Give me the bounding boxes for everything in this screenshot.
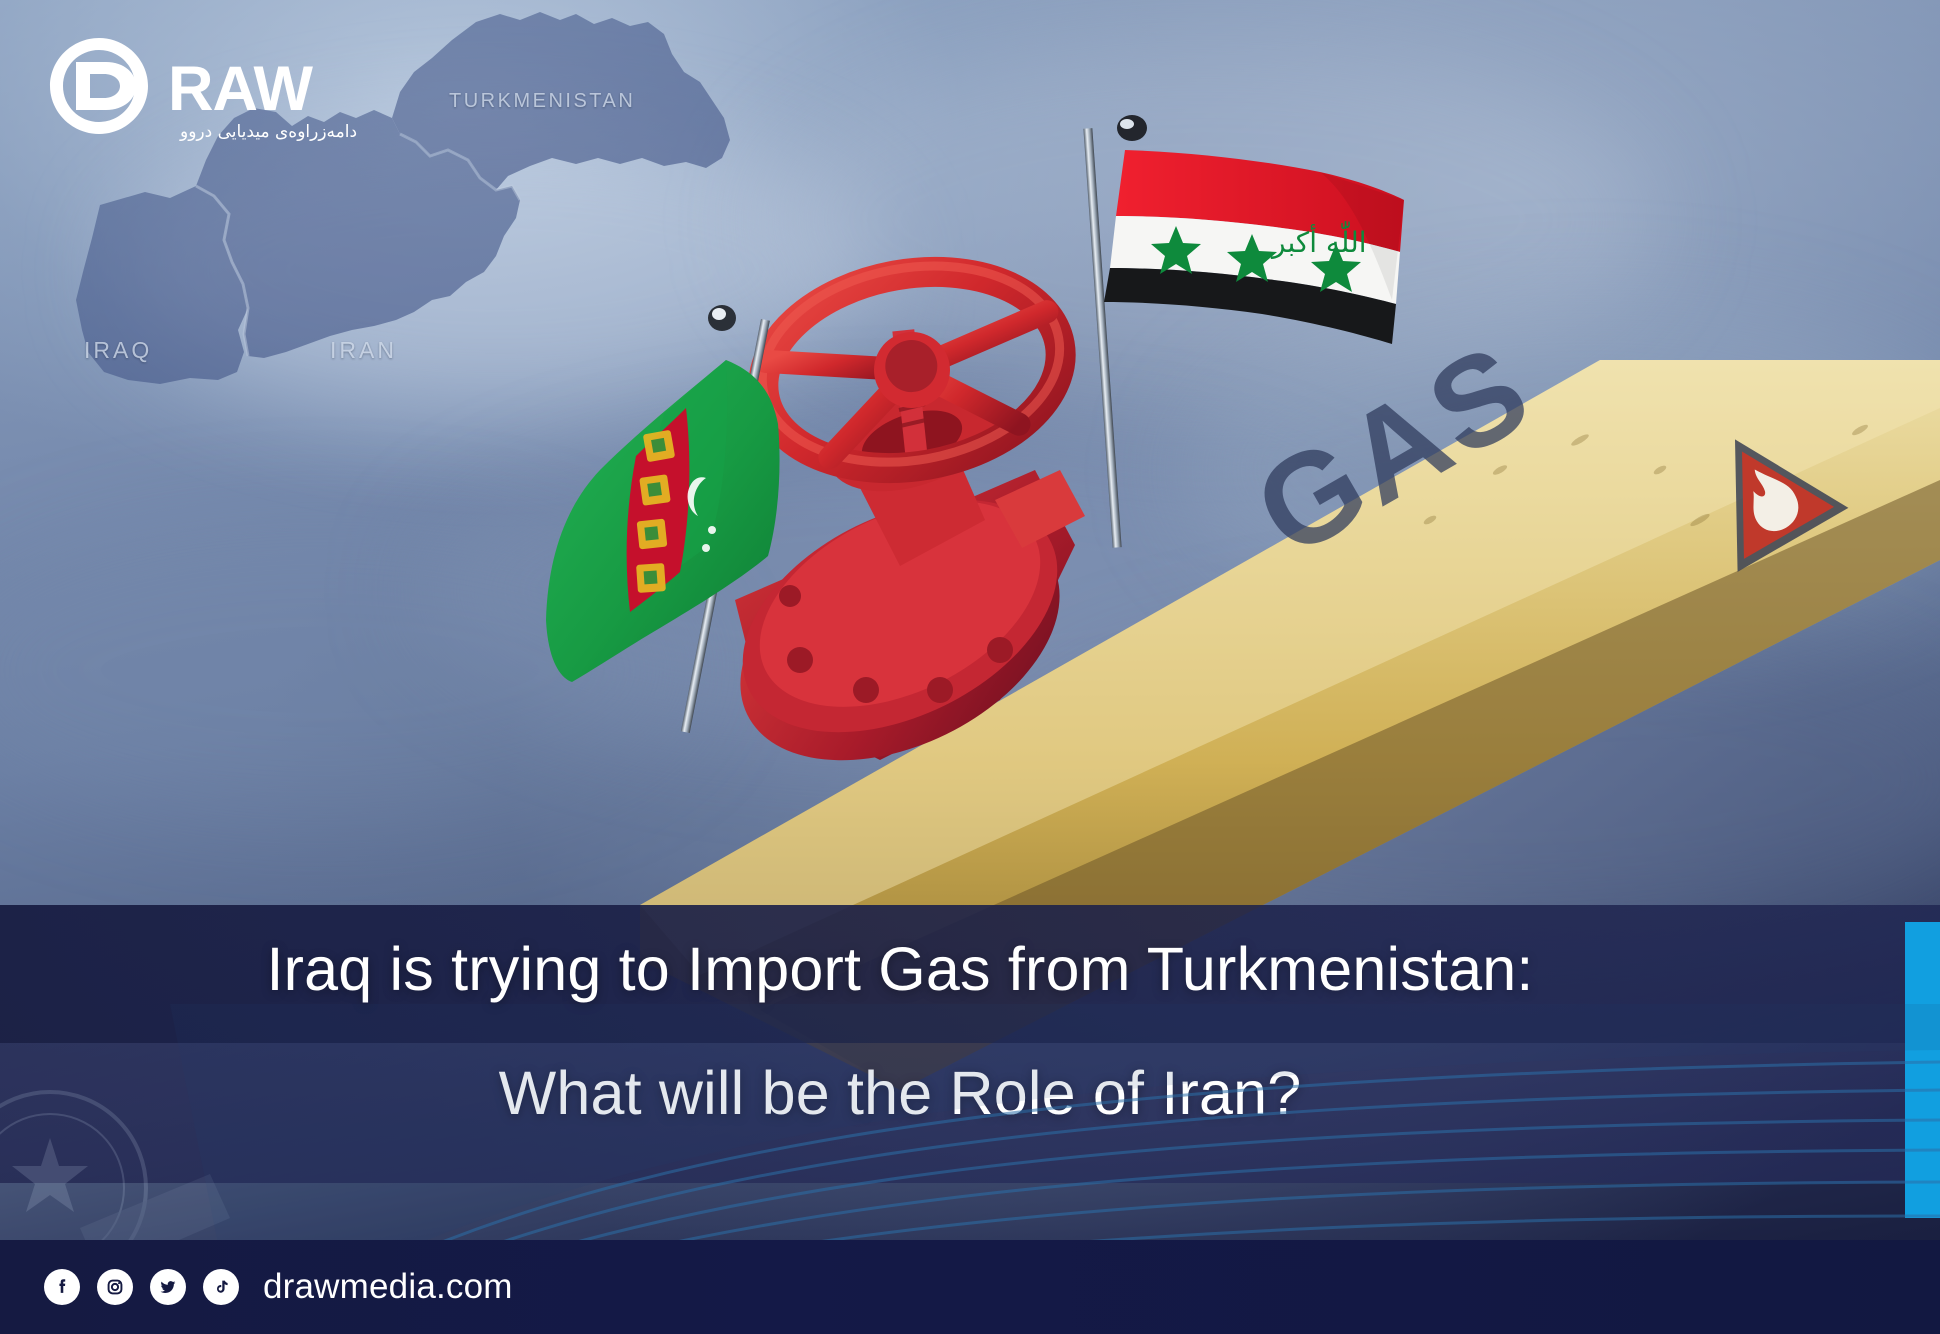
svg-text:اللّٰه أكبر: اللّٰه أكبر <box>1270 221 1367 259</box>
twitter-icon[interactable] <box>150 1269 186 1305</box>
logo-wordmark: RAW <box>168 58 312 121</box>
logo-subtitle: دامەزراوەی میدیایی دروو <box>180 122 357 142</box>
brand-logo[interactable]: RAW دامەزراوەی میدیایی دروو <box>40 36 340 136</box>
news-card: IRAQ IRAN TURKMENISTAN <box>0 0 1940 1334</box>
social-links <box>44 1269 239 1305</box>
valve-handwheel <box>747 244 1077 491</box>
facebook-icon[interactable] <box>44 1269 80 1305</box>
instagram-icon[interactable] <box>97 1269 133 1305</box>
website-url[interactable]: drawmedia.com <box>263 1267 513 1307</box>
d-monogram-icon <box>40 36 158 136</box>
tiktok-icon[interactable] <box>203 1269 239 1305</box>
headline-line-1: Iraq is trying to Import Gas from Turkme… <box>0 938 1800 1001</box>
accent-bar <box>1905 922 1940 1218</box>
headline-line-2: What will be the Role of Iran? <box>0 1062 1800 1125</box>
footer-bar: drawmedia.com <box>0 1240 1940 1334</box>
